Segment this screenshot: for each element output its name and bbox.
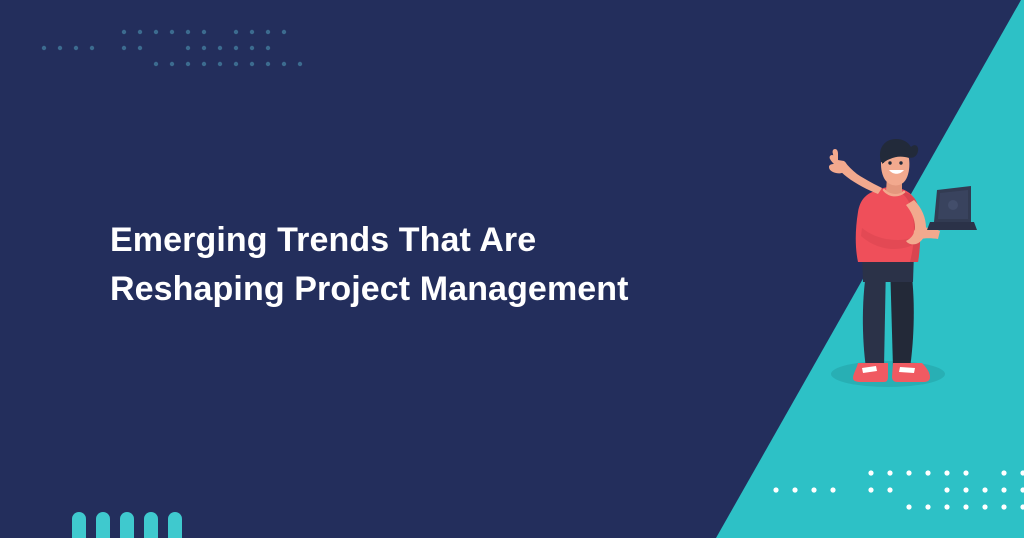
laptop-base — [927, 222, 977, 230]
eye-right — [899, 161, 902, 164]
laptop-logo — [948, 200, 958, 210]
page-title: Emerging Trends That Are Reshaping Proje… — [110, 216, 730, 314]
pointing-hand — [829, 155, 847, 173]
eye-left — [888, 161, 891, 164]
marketing-banner: Emerging Trends That Are Reshaping Proje… — [0, 0, 1024, 538]
shoe-right-stripe — [899, 367, 915, 373]
shoe-left — [853, 363, 888, 382]
